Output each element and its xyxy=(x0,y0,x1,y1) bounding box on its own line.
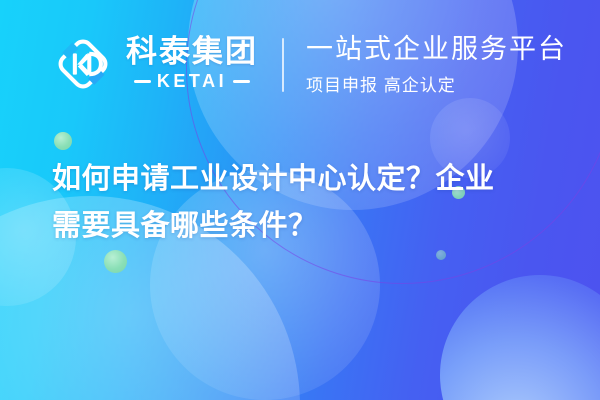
brand-wordmark: 科泰集团 KETAI xyxy=(126,36,258,93)
slogan-secondary: 项目申报 高企认定 xyxy=(306,71,567,96)
promo-banner: 科泰集团 KETAI 一站式企业服务平台 项目申报 高企认定 如何申请工业设计中… xyxy=(0,0,600,400)
brand-name-en: KETAI xyxy=(157,71,227,92)
right-sphere-decoration xyxy=(440,275,600,400)
logo-rule-right xyxy=(233,80,250,83)
headline-line-2: 需要具备哪些条件？ xyxy=(52,203,562,250)
logo-rule-left xyxy=(134,80,151,83)
header-divider xyxy=(282,38,284,92)
banner-header: 科泰集团 KETAI 一站式企业服务平台 项目申报 高企认定 xyxy=(0,0,600,140)
brand-name-cn: 科泰集团 xyxy=(126,36,258,69)
headline-line-1: 如何申请工业设计中心认定？企业 xyxy=(52,156,562,203)
brand-logo[interactable]: 科泰集团 KETAI xyxy=(52,33,258,95)
ketai-kd-diamond-logo-icon xyxy=(52,33,114,95)
slogan-primary: 一站式企业服务平台 xyxy=(306,34,567,64)
mint-dot-decoration xyxy=(436,250,446,260)
mint-dot-decoration xyxy=(104,250,127,273)
slogan-block: 一站式企业服务平台 项目申报 高企认定 xyxy=(306,34,567,96)
headline-block: 如何申请工业设计中心认定？企业 需要具备哪些条件？ xyxy=(52,156,562,250)
brand-name-en-row: KETAI xyxy=(126,71,258,92)
